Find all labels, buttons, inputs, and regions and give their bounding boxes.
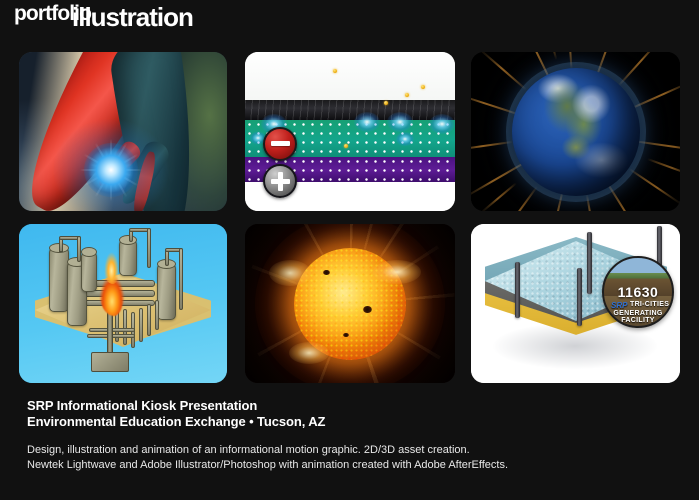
plant-riser	[165, 250, 169, 266]
sun-vignette	[245, 224, 455, 383]
plant-riser	[77, 236, 81, 262]
aquifer-well-rod	[587, 232, 592, 294]
project-description-line2: Newtek Lightwave and Adobe Illustrator/P…	[27, 458, 667, 473]
gallery-thumb-sun-photosphere[interactable]	[245, 224, 455, 383]
solar-electron-glow	[387, 112, 413, 132]
aquifer-well-rod	[577, 268, 582, 326]
project-title: SRP Informational Kiosk Presentation Env…	[27, 398, 667, 430]
gallery-thumb-gas-plant-isometric[interactable]	[19, 224, 227, 383]
facility-badge[interactable]: 11630 SRP TRI-CITIES GENERATING FACILITY	[602, 256, 674, 328]
project-title-line2: Environmental Education Exchange • Tucso…	[27, 414, 667, 430]
plant-flare-flame-inner	[103, 240, 120, 284]
abstract-flare-core	[84, 143, 138, 197]
header-word-illustration: illustration	[72, 4, 193, 30]
sun-photosphere-image	[245, 224, 455, 383]
plant-heat-coil	[123, 309, 127, 345]
plant-heat-coil	[147, 304, 151, 336]
srp-logo: SRP	[611, 301, 627, 310]
plant-riser	[147, 228, 151, 268]
gallery-thumb-earth-from-space[interactable]	[471, 52, 680, 211]
plus-icon	[271, 172, 290, 191]
gas-plant-isometric-image	[19, 224, 227, 383]
aquifer-well-rod	[515, 262, 520, 318]
project-caption: SRP Informational Kiosk Presentation Env…	[27, 398, 667, 473]
plant-tank	[157, 262, 176, 320]
plant-tank	[81, 250, 97, 292]
page-header: portfolio illustration	[0, 0, 699, 42]
solar-photon	[405, 93, 409, 97]
solar-electron-glow	[354, 112, 380, 132]
project-title-line1: SRP Informational Kiosk Presentation	[27, 398, 667, 414]
positive-charge-button[interactable]	[263, 164, 297, 198]
plant-riser	[59, 238, 63, 252]
facility-badge-name-line2: GENERATING FACILITY	[604, 310, 672, 324]
solar-top-area	[245, 52, 455, 104]
earth-from-space-image	[471, 52, 680, 211]
plant-heat-coil	[155, 300, 159, 330]
solar-electron-glow	[429, 114, 455, 134]
plant-heat-coil	[139, 308, 143, 342]
plant-tank	[49, 246, 69, 312]
project-description: Design, illustration and animation of an…	[27, 443, 667, 473]
solar-cell-diagram-image	[245, 52, 455, 211]
abstract-energy-render-image	[19, 52, 227, 211]
gallery-thumb-aquifer-cutaway-isometric[interactable]: 11630 SRP TRI-CITIES GENERATING FACILITY	[471, 224, 680, 383]
gallery-thumb-solar-cell-diagram[interactable]	[245, 52, 455, 211]
facility-badge-number: 11630	[604, 284, 672, 300]
gallery-thumb-abstract-energy-render[interactable]	[19, 52, 227, 211]
plant-equipment-base	[91, 352, 129, 372]
solar-electron-glow	[396, 132, 414, 146]
negative-charge-button[interactable]	[263, 127, 297, 161]
earth-vignette	[471, 52, 680, 211]
thumbnail-grid: 11630 SRP TRI-CITIES GENERATING FACILITY	[19, 52, 680, 383]
solar-photon	[384, 101, 388, 105]
aquifer-cutaway-image: 11630 SRP TRI-CITIES GENERATING FACILITY	[471, 224, 680, 383]
project-description-line1: Design, illustration and animation of an…	[27, 443, 667, 458]
solar-photon	[344, 144, 348, 148]
facility-badge-name-line1: TRI-CITIES	[630, 301, 669, 308]
minus-icon	[271, 141, 290, 146]
plant-riser	[179, 248, 183, 310]
